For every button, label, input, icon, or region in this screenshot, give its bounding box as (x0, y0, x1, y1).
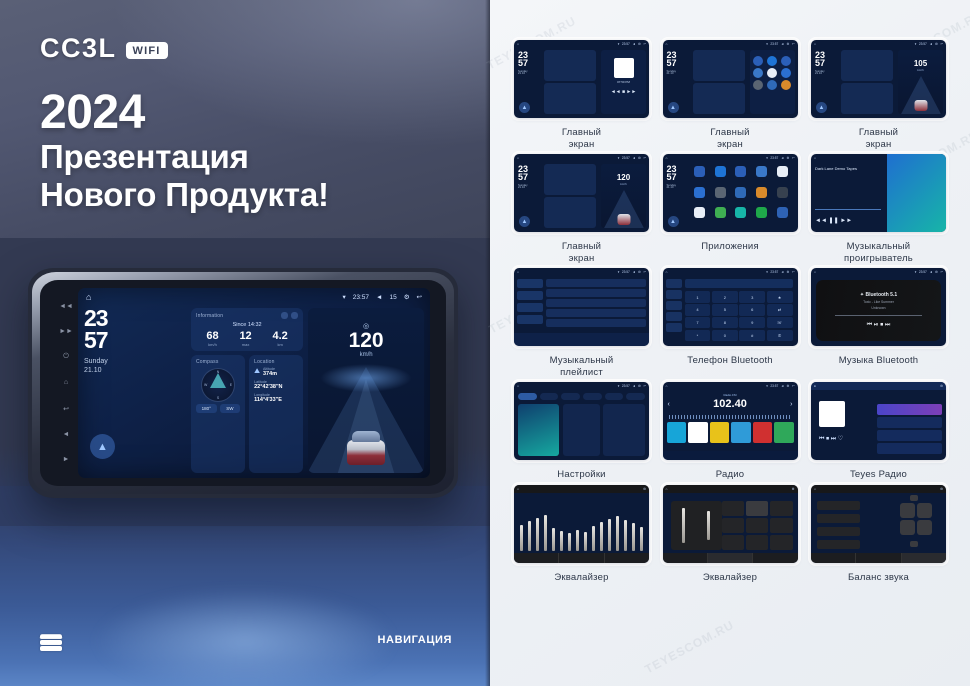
latitude-value: 22°42'38"N (254, 384, 298, 390)
volume-down-icon[interactable]: ◄ (63, 431, 70, 438)
location-title: Location (254, 359, 298, 365)
radio-presets[interactable] (667, 422, 794, 443)
thumbnail-caption: Teyes Радио (850, 469, 907, 481)
home-icon: ⌂ (517, 384, 519, 388)
compass-dial: N S W E (201, 368, 235, 402)
head-unit-screen[interactable]: ⌂ ▾ 23:57 ◄ 15 ⚙ ↩ 23 57 (78, 288, 430, 478)
navigation-arrow-icon[interactable]: ▲ (816, 102, 827, 113)
eq-slider[interactable] (536, 518, 539, 551)
settings-icon: ⚙ (638, 156, 641, 160)
thumbnail-caption: Баланс звука (848, 572, 909, 584)
back-icon: ↩ (940, 270, 943, 274)
seat-balance-pad[interactable] (900, 503, 932, 535)
home-icon[interactable]: ⌂ (86, 292, 91, 302)
bt-music-card: ✦ Bluetooth 5.1 Toxic - Like Summer Unkn… (816, 280, 941, 341)
status-time: 23:57 (770, 384, 778, 388)
back-icon: ↩ (643, 384, 646, 388)
wifi-icon: ▾ (618, 384, 620, 388)
car-dashboard: ◄◄ ►► ⏻ ⌂ ↩ ◄ ► ⌂ ▾ 23:57 ◄ 15 ⚙ ↩ (0, 250, 490, 550)
stat-value: 4.2 (272, 330, 287, 342)
back-icon: ↩ (792, 270, 795, 274)
speed-value: 120 (308, 330, 424, 351)
screen-thumbnail[interactable]: ⌂ ▾ 23:57 ◄ ⚙ ↩ (514, 268, 649, 346)
volume-up-icon[interactable]: ► (63, 456, 70, 463)
thumb-status-bar: ⌂ ▾ 23:57 ◄ ⚙ ↩ (663, 268, 798, 276)
thumb-clock: 2357Sunday21.10 (667, 51, 677, 75)
playlist-sidebar[interactable] (517, 279, 543, 332)
settings-icon: ⚙ (786, 384, 789, 388)
dial-key[interactable]: 6 (739, 304, 765, 315)
bt-version: ✦ Bluetooth 5.1 (860, 292, 897, 298)
thumbnail-caption: Эквалайзер (554, 572, 608, 584)
home-icon: ⌂ (814, 270, 816, 274)
eq-preset[interactable] (770, 501, 792, 516)
screen-thumbnail[interactable]: ⌂⚙ (514, 485, 649, 563)
altitude-value: 374m (263, 371, 277, 377)
car-3d-icon (345, 431, 387, 465)
gallery-item[interactable]: ⌂ ▾ 23:57 ◄ ⚙ ↩ Музыкальныйплейлист (514, 268, 649, 378)
thumb-track-title: Dark Lane Demo Tapes (815, 166, 893, 171)
thumb-widgets (544, 164, 596, 228)
dial-key[interactable]: 7 (685, 317, 711, 328)
phone-sidebar[interactable] (666, 279, 682, 343)
navigation-arrow-icon[interactable]: ▲ (668, 102, 679, 113)
back-icon: ↩ (792, 384, 795, 388)
layers-button[interactable] (40, 634, 62, 652)
button-next-icon[interactable]: ►► (59, 328, 73, 335)
volume-icon: ◄ (632, 156, 635, 160)
gallery-item[interactable]: ⌂ ▾ 23:57 ◄ ⚙ ↩2357Sunday21.10 ▲Приложен… (663, 154, 798, 264)
home-icon: ⌂ (517, 42, 519, 46)
button-prev-icon[interactable]: ◄◄ (59, 303, 73, 310)
screen-thumbnail[interactable]: ⌂ ▾ 23:57 ◄ ⚙ ↩2357Sunday21.10▲ 120 km/h (514, 154, 649, 232)
thumbnail-caption: Главныйэкран (562, 241, 601, 264)
eq-slider[interactable] (608, 519, 611, 551)
dial-key[interactable]: 4 (685, 304, 711, 315)
eq-slider[interactable] (632, 523, 635, 551)
screen-thumbnail[interactable]: ⌂⚙ (811, 485, 946, 563)
radio-frequency: 102.40 (663, 398, 798, 410)
eq-slider[interactable] (544, 515, 547, 551)
eq-slider[interactable] (520, 525, 523, 551)
home-icon: ⌂ (666, 384, 668, 388)
balance-down-icon[interactable] (910, 541, 918, 547)
since-label: Since 14:32 (196, 322, 298, 328)
eq-slider[interactable] (528, 521, 531, 551)
dial-key[interactable]: 3 (739, 291, 765, 302)
thumbnail-caption: Главныйэкран (562, 127, 601, 150)
power-icon[interactable]: ⏻ (63, 353, 69, 361)
dial-key[interactable]: 8 (712, 317, 738, 328)
app-icon[interactable] (756, 166, 767, 177)
volume-level: 15 (389, 294, 396, 301)
teyes-track-list[interactable] (877, 404, 942, 456)
screen-thumbnail[interactable]: ⌂ ▾ 23:57 ◄ ⚙ ↩Radio FM 102.40 ‹ › (663, 382, 798, 460)
eq-preset[interactable] (746, 518, 768, 533)
thumb-status-bar: ⌂ ▾ 23:57 ◄ ⚙ ↩ (514, 154, 649, 162)
screen-thumbnail[interactable]: ⌂ ▾ 23:57 ◄ ⚙ ↩Dark Lane Demo Tapes ◄◄ ❚… (811, 154, 946, 232)
hero-glow (30, 566, 460, 686)
thumbnail-caption: Настройки (557, 469, 605, 481)
preset-tile[interactable] (710, 422, 730, 443)
stat-unit: km (272, 342, 287, 347)
app-icon[interactable] (715, 187, 726, 198)
screen-thumbnail[interactable]: ●⚙ ⏮ ⏹ ⏭ ♡ (811, 382, 946, 460)
stat-item: 12 max (239, 330, 251, 347)
compass-north: N (217, 370, 220, 374)
app-icon[interactable] (694, 187, 705, 198)
wifi-icon: ▾ (618, 42, 620, 46)
dial-key[interactable]: ⇄ (767, 304, 793, 315)
gallery-item[interactable]: ⌂ ▾ 23:57 ◄ ⚙ ↩Dark Lane Demo Tapes ◄◄ ❚… (811, 154, 946, 264)
nav-label: НАВИГАЦИЯ (378, 634, 452, 646)
equalizer-bands[interactable] (520, 501, 643, 551)
teyes-now-playing: ⏮ ⏹ ⏭ ♡ (815, 395, 878, 456)
compass-heading: 180° (196, 404, 217, 413)
gallery-item[interactable]: ●⚙ ⏮ ⏹ ⏭ ♡ Teyes Радио (811, 382, 946, 481)
volume-icon: ◄ (781, 384, 784, 388)
volume-icon: ◄ (376, 294, 382, 301)
status-time: 23:57 (622, 270, 630, 274)
status-bar: ⌂ ▾ 23:57 ◄ 15 ⚙ ↩ (78, 288, 430, 306)
home-icon: ⌂ (814, 156, 816, 160)
home-icon: ⌂ (517, 270, 519, 274)
eq-preset[interactable] (722, 535, 744, 550)
compass-direction: SW (220, 404, 241, 413)
gallery-item[interactable]: ⌂ ▾ 23:57 ◄ ⚙ ↩2357Sunday21.10▲ 120 km/h… (514, 154, 649, 264)
radio-band: Radio FM (663, 393, 798, 397)
wifi-icon: ▾ (343, 293, 346, 301)
home-widgets: 23 57 Sunday 21.10 ▲ Information (84, 308, 424, 473)
thumb-status-bar: ⌂ ▾ 23:57 ◄ ⚙ ↩ (663, 40, 798, 48)
eq-slider[interactable] (624, 520, 627, 551)
screen-thumbnail[interactable]: ⌂ ▾ 23:57 ◄ ⚙ ↩ 123★456⇄789☏*0#✆ (663, 268, 798, 346)
home-icon: ⌂ (517, 156, 519, 160)
gallery-item[interactable]: ⌂ ▾ 23:57 ◄ ⚙ ↩2357Sunday21.10▲ 07:50 PM… (514, 40, 649, 150)
thumbnail-caption: Главныйэкран (859, 127, 898, 150)
screen-thumbnail[interactable]: ⌂ ▾ 23:57 ◄ ⚙ ↩ ✦ Bluetooth 5.1 Toxic - … (811, 268, 946, 346)
compass-east: E (230, 383, 232, 387)
clock-date: 21.10 (84, 367, 102, 374)
home-hw-icon[interactable]: ⌂ (64, 379, 68, 386)
wifi-icon: ▾ (766, 384, 768, 388)
thumb-clock: 2357Sunday21.10 (518, 51, 528, 75)
thumb-status-bar: ⌂ ▾ 23:57 ◄ ⚙ ↩ (514, 382, 649, 390)
dial-key[interactable]: ★ (767, 291, 793, 302)
wifi-icon: ▾ (915, 42, 917, 46)
thumb-clock: 2357Sunday21.10 (518, 165, 528, 189)
dial-key[interactable]: 9 (739, 317, 765, 328)
more-tile[interactable] (603, 404, 645, 456)
clock-day: Sunday (84, 358, 108, 365)
thumbnail-caption: Музыка Bluetooth (839, 355, 919, 367)
expand-icon[interactable] (291, 312, 298, 319)
gallery-item[interactable]: ⌂⚙ Эквалайзер (514, 485, 649, 584)
app-icon[interactable] (715, 207, 726, 218)
eq-slider[interactable] (552, 528, 555, 551)
eq-slider[interactable] (600, 522, 603, 551)
settings-icon: ⚙ (786, 156, 789, 160)
eq-preset[interactable] (722, 501, 744, 516)
carplay-tile[interactable] (563, 404, 601, 456)
settings-tabs[interactable] (518, 393, 645, 400)
preset-tile[interactable] (774, 422, 794, 443)
location-card[interactable]: Location ⛰ Altitude 374m Latitude (249, 355, 303, 473)
gallery-row: ⌂ ▾ 23:57 ◄ ⚙ ↩2357Sunday21.10▲ 120 km/h… (496, 154, 964, 264)
gallery-item[interactable]: ⌂ ▾ 23:57 ◄ ⚙ ↩ Настройки (514, 382, 649, 481)
gallery-item[interactable]: ⌂ ▾ 23:57 ◄ ⚙ ↩ 123★456⇄789☏*0#✆ Телефон… (663, 268, 798, 378)
drive-widget[interactable]: ◎ 120 km/h (308, 308, 424, 473)
clock-widget: 23 57 Sunday 21.10 (84, 308, 186, 375)
compass-south: S (217, 396, 219, 400)
app-icon[interactable] (735, 166, 746, 177)
compass-title: Compass (196, 359, 240, 365)
volume-icon: ◄ (632, 270, 635, 274)
information-actions[interactable] (281, 312, 298, 319)
eq-preset[interactable] (746, 535, 768, 550)
wifi-tile[interactable] (518, 404, 559, 456)
presentation-slide: CC3L WIFI 2024 Презентация Нового Продук… (0, 0, 970, 686)
bt-artist: Unknown (871, 306, 885, 310)
speed-readout: ◎ 120 km/h (308, 322, 424, 358)
back-icon: ↩ (792, 42, 795, 46)
logo-text: CC3L (40, 33, 117, 64)
thumb-status-bar: ⌂ ▾ 23:57 ◄ ⚙ ↩ (663, 154, 798, 162)
status-time: 23:57 (353, 294, 369, 301)
product-logo: CC3L WIFI (40, 33, 168, 64)
navigation-arrow-icon[interactable]: ▲ (519, 102, 530, 113)
trip-stats: 68 km/h 12 max 4.2 km (196, 330, 298, 347)
balance-up-icon[interactable] (910, 495, 918, 501)
information-title: Information (196, 313, 223, 319)
bt-controls[interactable]: ⏮ ⏯ ⏹ ⏭ (867, 322, 891, 329)
layers-icon[interactable] (40, 634, 62, 652)
app-icon[interactable] (756, 187, 767, 198)
gallery-item[interactable]: ⌂⚙ Баланс звука (811, 485, 946, 584)
eq-preset[interactable] (746, 501, 768, 516)
app-icon[interactable] (694, 166, 705, 177)
app-icon[interactable] (777, 207, 788, 218)
status-time: 23:57 (622, 42, 630, 46)
dial-key[interactable]: 5 (712, 304, 738, 315)
thumb-status-bar: ⌂ ▾ 23:57 ◄ ⚙ ↩ (514, 40, 649, 48)
thumb-app-panel (750, 50, 795, 114)
app-icon[interactable] (777, 166, 788, 177)
status-time: 23:57 (770, 156, 778, 160)
gallery-row: ⌂ ▾ 23:57 ◄ ⚙ ↩ Музыкальныйплейлист ⌂ ▾ … (496, 268, 964, 378)
eq-slider[interactable] (576, 530, 579, 551)
screen-thumbnail[interactable]: ⌂ ▾ 23:57 ◄ ⚙ ↩2357Sunday21.10▲ (663, 40, 798, 118)
thumb-widgets (544, 50, 596, 114)
settings-icon[interactable]: ⚙ (404, 293, 410, 301)
app-icon[interactable] (735, 187, 746, 198)
screen-thumbnail[interactable]: ⌂ ▾ 23:57 ◄ ⚙ ↩ (514, 382, 649, 460)
dial-pad[interactable]: 123★456⇄789☏*0#✆ (685, 291, 793, 341)
status-time: 23:57 (770, 42, 778, 46)
thumbnail-caption: Телефон Bluetooth (687, 355, 773, 367)
thumbnail-caption: Главныйэкран (710, 127, 749, 150)
back-icon: ↩ (792, 156, 795, 160)
stat-value: 12 (239, 330, 251, 342)
info-column: Information Since 14:32 68 km/h 12 (191, 308, 303, 473)
thumb-status-bar: ⌂ ▾ 23:57 ◄ ⚙ ↩ (663, 382, 798, 390)
status-time: 23:57 (919, 42, 927, 46)
settings-icon: ⚙ (638, 270, 641, 274)
volume-icon: ◄ (632, 42, 635, 46)
app-icon[interactable] (777, 187, 788, 198)
stat-value: 68 (206, 330, 218, 342)
screen-thumbnail[interactable]: ⌂ ▾ 23:57 ◄ ⚙ ↩2357Sunday21.10▲ 07:50 PM… (514, 40, 649, 118)
settings-icon: ⚙ (786, 42, 789, 46)
eq-preset[interactable] (722, 518, 744, 533)
status-time: 23:57 (919, 270, 927, 274)
navigation-arrow-icon[interactable]: ▲ (519, 216, 530, 227)
bt-track: Toxic - Like Summer (863, 300, 894, 304)
fader-group[interactable] (671, 501, 722, 550)
preset-grid[interactable] (722, 501, 792, 550)
gallery-row: ⌂ ▾ 23:57 ◄ ⚙ ↩2357Sunday21.10▲ 07:50 PM… (496, 40, 964, 150)
thumb-status-bar: ⌂ ▾ 23:57 ◄ ⚙ ↩ (514, 268, 649, 276)
status-time: 23:57 (622, 384, 630, 388)
headline: 2024 Презентация Нового Продукта! (40, 88, 329, 214)
app-icon[interactable] (735, 207, 746, 218)
mountain-icon: ⛰ (254, 368, 260, 376)
thumbnail-caption: Эквалайзер (703, 572, 757, 584)
wifi-icon: ▾ (915, 270, 917, 274)
gallery-item[interactable]: ⌂ ▾ 23:57 ◄ ⚙ ↩ ✦ Bluetooth 5.1 Toxic - … (811, 268, 946, 378)
compass-west: W (204, 383, 207, 387)
eq-preset[interactable] (770, 535, 792, 550)
volume-icon: ◄ (929, 270, 932, 274)
dial-key[interactable]: 2 (712, 291, 738, 302)
back-icon: ↩ (643, 156, 646, 160)
dial-key[interactable]: ✆ (767, 330, 793, 341)
preset-tile[interactable] (731, 422, 751, 443)
app-icon[interactable] (756, 207, 767, 218)
gallery-item[interactable]: ⌂⚙ Эквалайзер (663, 485, 798, 584)
app-icon[interactable] (694, 207, 705, 218)
eq-slider[interactable] (584, 532, 587, 551)
gallery-row: ⌂⚙ Эквалайзер⌂⚙ Эквалайзер⌂⚙ (496, 485, 964, 584)
thumbnail-caption: Приложения (701, 241, 759, 253)
dial-key[interactable]: 1 (685, 291, 711, 302)
hero-panel: CC3L WIFI 2024 Презентация Нового Продук… (0, 0, 490, 686)
headline-line-1: Презентация (40, 138, 329, 176)
home-icon: ⌂ (666, 156, 668, 160)
longitude-value: 114°4'33"E (254, 397, 298, 403)
preset-tile[interactable] (667, 422, 687, 443)
app-icon[interactable] (715, 166, 726, 177)
volume-icon: ◄ (781, 42, 784, 46)
home-icon: ⌂ (666, 42, 668, 46)
thumb-drive-panel: 105 km/h (898, 50, 943, 114)
screen-thumbnail[interactable]: ⌂ ▾ 23:57 ◄ ⚙ ↩2357Sunday21.10▲ 105 km/h (811, 40, 946, 118)
back-icon: ↩ (643, 42, 646, 46)
thumb-widgets (841, 50, 893, 114)
stat-item: 4.2 km (272, 330, 287, 347)
screen-thumbnail[interactable]: ⌂⚙ (663, 485, 798, 563)
lower-widgets: Compass N S W E (191, 355, 303, 473)
settings-icon: ⚙ (935, 42, 938, 46)
settings-icon: ⚙ (786, 270, 789, 274)
balance-modes[interactable] (817, 501, 860, 550)
eq-slider[interactable] (560, 531, 563, 551)
thumb-app-grid[interactable] (689, 164, 794, 228)
information-card[interactable]: Information Since 14:32 68 km/h 12 (191, 308, 303, 351)
wifi-icon: ▾ (766, 156, 768, 160)
back-icon: ↩ (940, 42, 943, 46)
preset-tile[interactable] (688, 422, 708, 443)
thumb-status-bar: ⌂ ▾ 23:57 ◄ ⚙ ↩ (811, 40, 946, 48)
back-hw-icon[interactable]: ↩ (63, 405, 69, 413)
volume-icon: ◄ (781, 156, 784, 160)
dial-key[interactable]: * (685, 330, 711, 341)
hardware-buttons[interactable]: ◄◄ ►► ⏻ ⌂ ↩ ◄ ► (58, 294, 74, 472)
home-icon: ⌂ (666, 270, 668, 274)
gallery-row: ⌂ ▾ 23:57 ◄ ⚙ ↩ Настройки ⌂ ▾ 23:57 ◄ ⚙ … (496, 382, 964, 481)
gallery-item[interactable]: ⌂ ▾ 23:57 ◄ ⚙ ↩Radio FM 102.40 ‹ › Радио (663, 382, 798, 481)
back-icon: ↩ (643, 270, 646, 274)
compass-card[interactable]: Compass N S W E (191, 355, 245, 473)
gallery-item[interactable]: ⌂ ▾ 23:57 ◄ ⚙ ↩2357Sunday21.10▲ 105 km/h… (811, 40, 946, 150)
thumb-status-bar: ⌂ ▾ 23:57 ◄ ⚙ ↩ (811, 268, 946, 276)
settings-icon: ⚙ (638, 42, 641, 46)
wifi-icon: ▾ (618, 156, 620, 160)
radio-prev-icon[interactable]: ‹ (668, 401, 670, 408)
gallery-item[interactable]: ⌂ ▾ 23:57 ◄ ⚙ ↩2357Sunday21.10▲ Главныйэ… (663, 40, 798, 150)
radio-next-icon[interactable]: › (790, 401, 792, 408)
wifi-icon: ▾ (766, 270, 768, 274)
dial-key[interactable]: # (739, 330, 765, 341)
eq-slider[interactable] (616, 516, 619, 551)
eq-slider[interactable] (640, 527, 643, 551)
volume-icon: ◄ (929, 42, 932, 46)
thumb-widgets (693, 50, 745, 114)
navigation-arrow-icon[interactable]: ▲ (668, 216, 679, 227)
thumb-clock: 2357Sunday21.10 (667, 165, 677, 189)
settings-icon: ⚙ (638, 384, 641, 388)
back-icon[interactable]: ↩ (417, 293, 422, 301)
clock-minutes: 57 (84, 330, 186, 352)
stat-item: 68 km/h (206, 330, 218, 347)
thumb-music-panel: 07:50 PM ◄◄ ■ ►► (601, 50, 646, 114)
road-illustration (308, 358, 424, 473)
stat-unit: km/h (206, 342, 218, 347)
stat-unit: max (239, 342, 251, 347)
settings-icon: ⚙ (935, 270, 938, 274)
eq-slider[interactable] (568, 533, 571, 551)
screenshot-gallery: TEYESCOM.RU TEYESCOM.RU TEYESCOM.RU TEYE… (490, 0, 970, 686)
clock-column: 23 57 Sunday 21.10 ▲ (84, 308, 186, 473)
thumbnail-caption: Радио (716, 469, 744, 481)
navigation-arrow-icon[interactable]: ▲ (90, 434, 115, 459)
playlist-rows[interactable] (546, 279, 646, 332)
preset-tile[interactable] (753, 422, 773, 443)
refresh-icon[interactable] (281, 312, 288, 319)
thumbnail-caption: Музыкальныйплейлист (550, 355, 614, 378)
dial-key[interactable]: ☏ (767, 317, 793, 328)
eq-preset[interactable] (770, 518, 792, 533)
dial-key[interactable]: 0 (712, 330, 738, 341)
volume-icon: ◄ (781, 270, 784, 274)
eq-slider[interactable] (592, 526, 595, 551)
home-icon: ⌂ (814, 42, 816, 46)
status-time: 23:57 (622, 156, 630, 160)
screen-thumbnail[interactable]: ⌂ ▾ 23:57 ◄ ⚙ ↩2357Sunday21.10 ▲ (663, 154, 798, 232)
wifi-badge: WIFI (126, 42, 168, 59)
thumb-drive-panel: 120 km/h (601, 164, 646, 228)
wifi-icon: ▾ (618, 270, 620, 274)
